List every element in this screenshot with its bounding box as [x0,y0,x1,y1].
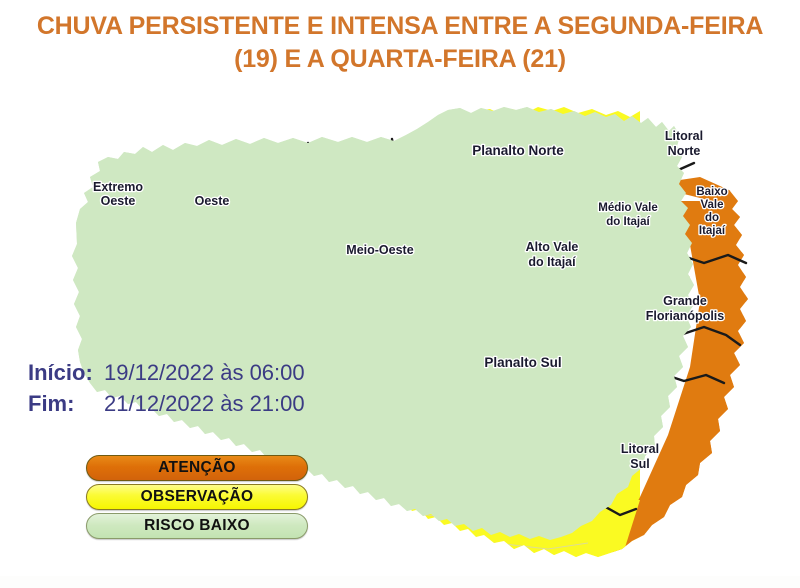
legend-item-observacao[interactable]: OBSERVAÇÃO [86,484,308,510]
schedule-end-row: Fim: 21/12/2022 às 21:00 [28,388,305,419]
legend-label-risco-baixo: RISCO BAIXO [144,518,250,534]
page-title-line-1: CHUVA PERSISTENTE E INTENSA ENTRE A SEGU… [0,10,800,43]
schedule-start-label: Início: [28,357,104,388]
legend-item-atencao[interactable]: ATENÇÃO [86,455,308,481]
legend-item-risco-baixo[interactable]: RISCO BAIXO [86,513,308,539]
risk-legend: ATENÇÃO OBSERVAÇÃO RISCO BAIXO [86,455,308,542]
schedule-end-label: Fim: [28,388,104,419]
schedule-end-value: 21/12/2022 às 21:00 [104,388,305,419]
page-title-line-2: (19) E A QUARTA-FEIRA (21) [0,43,800,76]
bottom-margin [0,576,800,588]
legend-label-observacao: OBSERVAÇÃO [141,489,254,505]
weather-alert-poster: CHUVA PERSISTENTE E INTENSA ENTRE A SEGU… [0,0,800,588]
schedule-start-row: Início: 19/12/2022 às 06:00 [28,357,305,388]
schedule-start-value: 19/12/2022 às 06:00 [104,357,305,388]
page-title: CHUVA PERSISTENTE E INTENSA ENTRE A SEGU… [0,10,800,76]
legend-label-atencao: ATENÇÃO [158,460,236,476]
event-schedule: Início: 19/12/2022 às 06:00 Fim: 21/12/2… [28,357,305,419]
